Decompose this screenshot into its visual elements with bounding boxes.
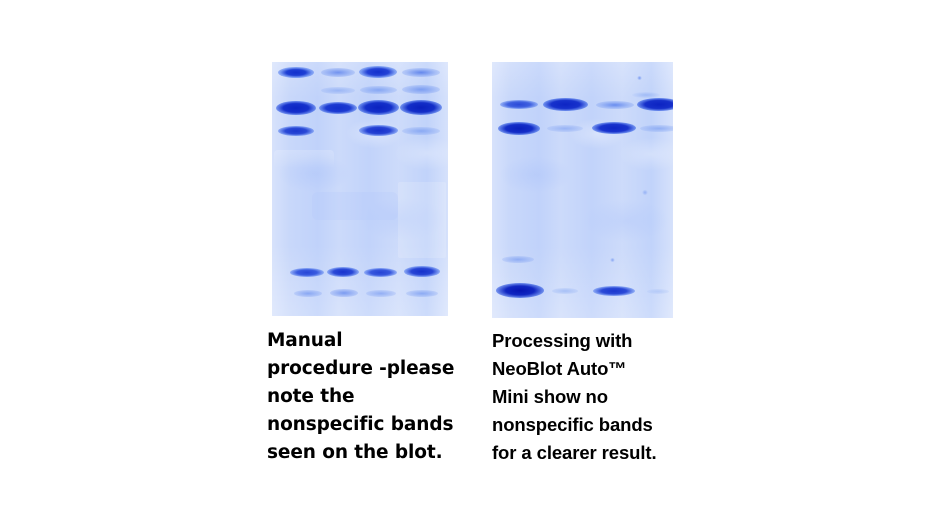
band-manual-l3-target (358, 100, 399, 115)
band-manual-l4-target (400, 100, 442, 115)
band-neoblot-l3-upper (596, 101, 634, 109)
manual-procedure-panel: Manual procedure -please note the nonspe… (0, 0, 469, 525)
band-neoblot-l1-lowmw (496, 283, 544, 298)
band-neoblot-l4-upper (637, 98, 673, 111)
band-manual-l3-lowest-nonspecific (366, 290, 396, 297)
band-manual-l2-target (319, 102, 357, 114)
band-neoblot-l1-faint-streak (502, 256, 534, 263)
neoblot-auto-panel: Processing with NeoBlot Auto™ Mini show … (469, 0, 938, 525)
band-manual-l4-upper (402, 68, 440, 77)
band-manual-l3-lowmw (364, 268, 397, 277)
band-neoblot-l1-upper (500, 100, 538, 109)
band-neoblot-l4-lowmw (647, 289, 669, 294)
membrane-artifact-block (398, 182, 446, 258)
membrane-speck-lower (610, 258, 615, 262)
band-manual-l2-midsmear (321, 87, 355, 94)
membrane-artifact-upper-left (274, 150, 334, 168)
band-neoblot-l2-upper (543, 98, 588, 111)
band-manual-l2-lowmw (327, 267, 359, 277)
band-manual-l1-lower-nonspecific (278, 126, 314, 136)
band-neoblot-l2-lower (547, 125, 583, 132)
band-neoblot-l3-lower (592, 122, 636, 134)
band-manual-l3-upper (359, 66, 397, 78)
band-manual-l4-lower-nonspecific (402, 127, 440, 135)
band-manual-l3-lower-nonspecific (359, 125, 398, 136)
membrane-speck-top (637, 76, 642, 80)
band-manual-l1-target (276, 101, 316, 115)
manual-procedure-caption: Manual procedure -please note the nonspe… (267, 327, 467, 467)
band-neoblot-l4-lower (640, 125, 673, 132)
band-manual-l2-lowest-nonspecific (330, 289, 358, 297)
band-manual-l4-lowest-nonspecific (406, 290, 438, 297)
neoblot-auto-blot-image (492, 62, 673, 318)
band-manual-l4-lowmw (404, 266, 440, 277)
band-neoblot-l2-lowmw (552, 288, 578, 294)
neoblot-auto-caption: Processing with NeoBlot Auto™ Mini show … (492, 327, 702, 467)
band-manual-l1-lowmw (290, 268, 324, 277)
band-neoblot-l3-lowmw (593, 286, 635, 296)
band-manual-l1-upper (278, 67, 314, 78)
band-manual-l2-upper (321, 68, 355, 77)
membrane-speck-mid (642, 190, 648, 195)
manual-blot-image (272, 62, 448, 316)
band-manual-l4-midsmear (402, 85, 440, 94)
band-manual-l3-midsmear (360, 86, 397, 94)
band-neoblot-l1-lower (498, 122, 540, 135)
membrane-artifact-mid (312, 192, 398, 220)
band-manual-l1-lowest-nonspecific (294, 290, 322, 297)
